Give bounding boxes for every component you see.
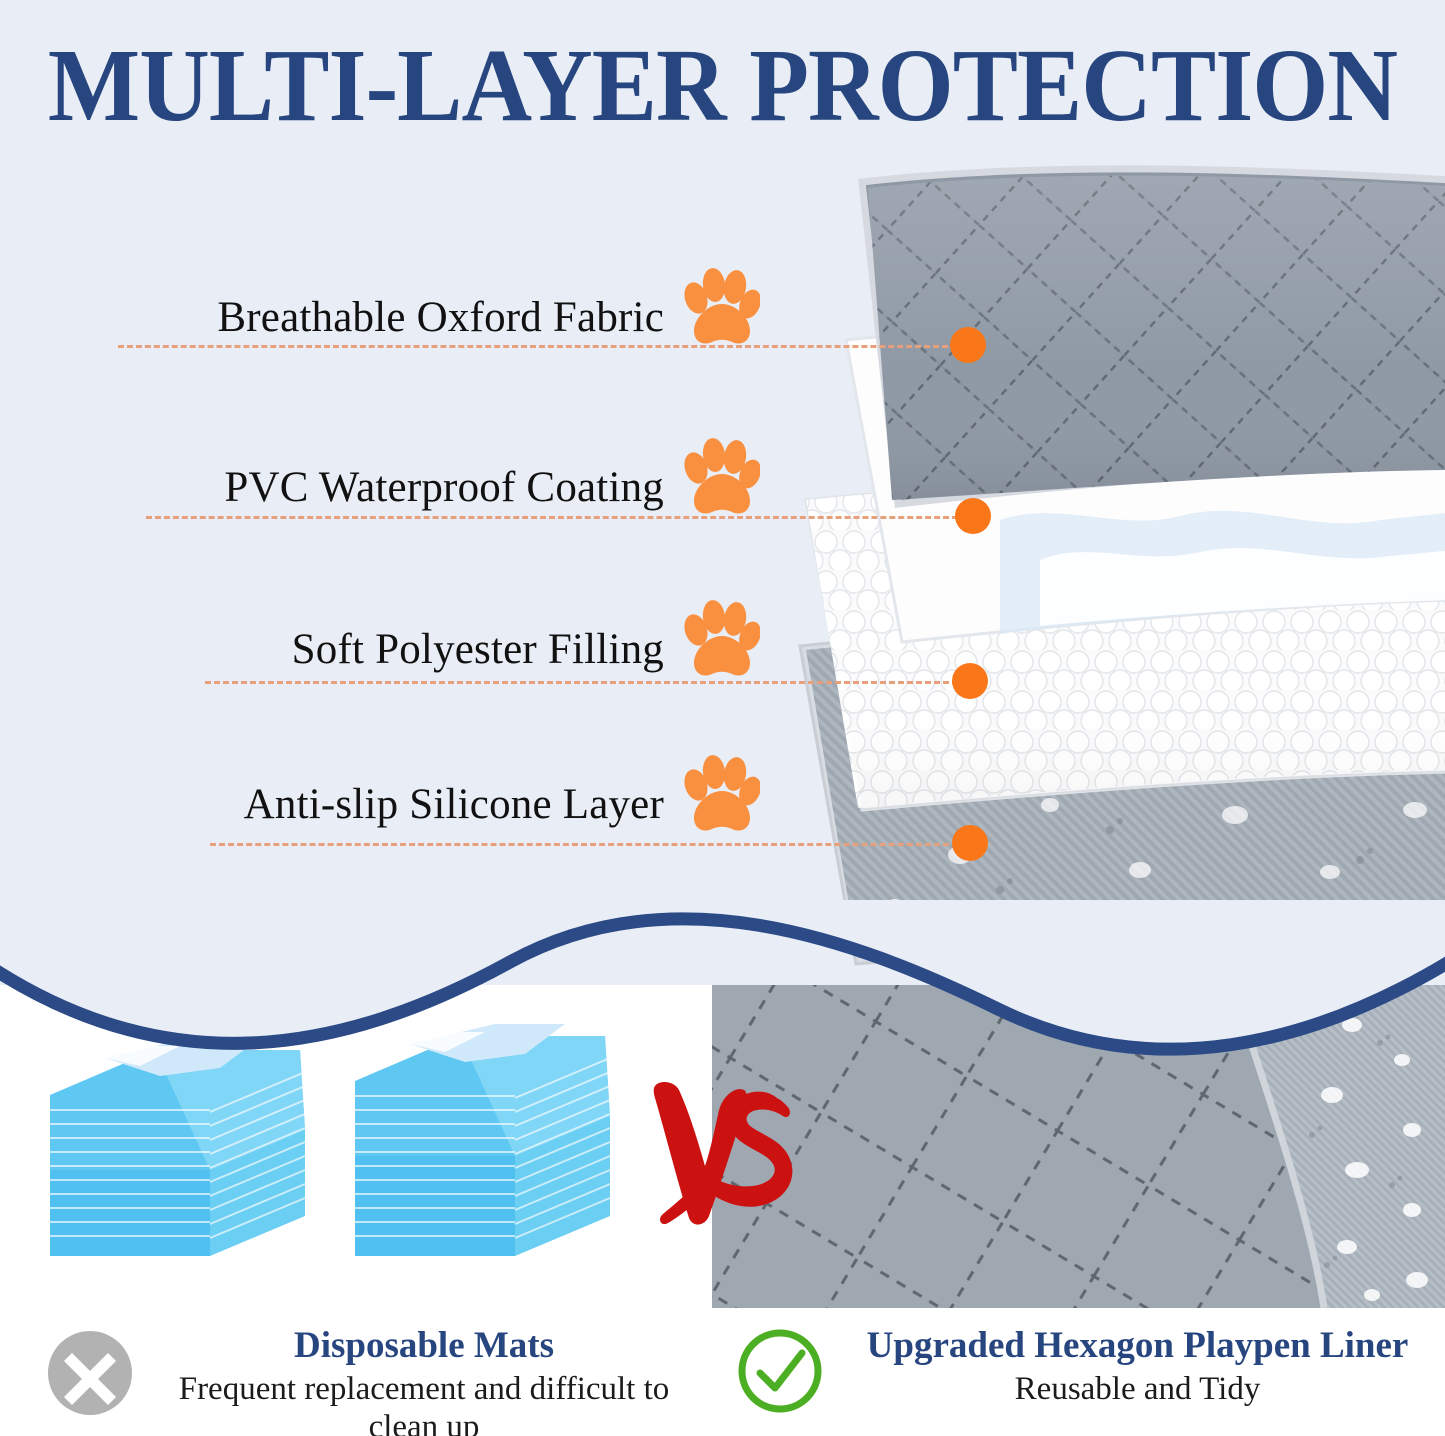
check-mark-icon bbox=[736, 1327, 824, 1415]
oxford-fabric-layer bbox=[850, 160, 1445, 520]
connector-dot-4 bbox=[952, 825, 988, 861]
page-title: MULTI-LAYER PROTECTION bbox=[43, 34, 1401, 138]
feature-label-1: Breathable Oxford Fabric bbox=[217, 293, 664, 342]
feature-label-3: Soft Polyester Filling bbox=[292, 625, 664, 674]
connector-line-1 bbox=[118, 345, 948, 348]
connector-dot-1 bbox=[950, 327, 986, 363]
paw-print-icon bbox=[680, 600, 760, 684]
feature-row-4: Anti-slip Silicone Layer bbox=[118, 745, 760, 835]
wave-divider bbox=[0, 900, 1445, 1060]
paw-print-icon bbox=[680, 438, 760, 522]
connector-line-4 bbox=[210, 843, 958, 846]
pad-stack-left bbox=[50, 1038, 305, 1256]
feature-label-4: Anti-slip Silicone Layer bbox=[244, 780, 664, 829]
connector-line-3 bbox=[205, 681, 958, 684]
caption-subtitle: Frequent replacement and difficult to cl… bbox=[150, 1370, 698, 1436]
product-infographic: MULTI-LAYER PROTECTION Breathable Oxford… bbox=[0, 0, 1445, 1436]
feature-label-2: PVC Waterproof Coating bbox=[224, 463, 664, 512]
vs-label bbox=[645, 1070, 795, 1265]
multi-layer-section: MULTI-LAYER PROTECTION Breathable Oxford… bbox=[0, 0, 1445, 1010]
caption-title: Disposable Mats bbox=[150, 1325, 698, 1368]
connector-dot-2 bbox=[955, 498, 991, 534]
feature-row-3: Soft Polyester Filling bbox=[140, 590, 760, 680]
connector-line-2 bbox=[146, 516, 958, 519]
paw-print-icon bbox=[680, 268, 760, 352]
connector-dot-3 bbox=[952, 663, 988, 699]
caption-subtitle: Reusable and Tidy bbox=[838, 1370, 1437, 1409]
disposable-mats-caption: Disposable Mats Frequent replacement and… bbox=[0, 1325, 712, 1435]
x-mark-icon bbox=[46, 1329, 134, 1417]
hexagon-liner-caption: Upgraded Hexagon Playpen Liner Reusable … bbox=[712, 1325, 1445, 1435]
feature-row-2: PVC Waterproof Coating bbox=[92, 428, 760, 518]
paw-print-icon bbox=[680, 755, 760, 839]
feature-row-1: Breathable Oxford Fabric bbox=[92, 258, 760, 348]
caption-title: Upgraded Hexagon Playpen Liner bbox=[838, 1325, 1437, 1368]
